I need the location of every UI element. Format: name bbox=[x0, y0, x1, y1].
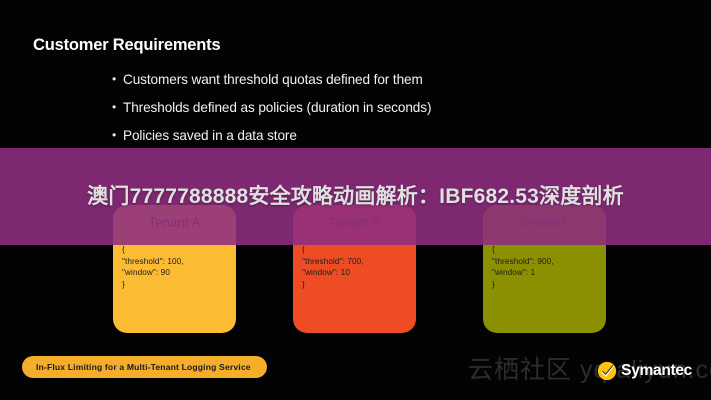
footer-title-pill: In-Flux Limiting for a Multi-Tenant Logg… bbox=[22, 356, 267, 378]
presentation-slide: Customer Requirements • Customers want t… bbox=[0, 0, 711, 400]
bullet-dot-icon: • bbox=[112, 100, 123, 115]
list-item: • Customers want threshold quotas define… bbox=[112, 72, 632, 87]
bullet-dot-icon: • bbox=[112, 72, 123, 87]
list-item-label: Thresholds defined as policies (duration… bbox=[123, 100, 632, 115]
symantec-checkmark-icon bbox=[597, 361, 617, 381]
bullet-dot-icon: • bbox=[112, 128, 123, 143]
bullet-list: • Customers want threshold quotas define… bbox=[112, 72, 632, 156]
list-item: • Policies saved in a data store bbox=[112, 128, 632, 143]
tenant-policy-json: { "threshold": 900, "window": 1 } bbox=[483, 241, 606, 290]
overlay-banner: 澳门7777788888安全攻略动画解析：IBF682.53深度剖析 bbox=[0, 148, 711, 245]
list-item-label: Policies saved in a data store bbox=[123, 128, 632, 143]
footer-title-label: In-Flux Limiting for a Multi-Tenant Logg… bbox=[36, 362, 251, 372]
tenant-policy-json: { "threshold": 700, "window": 10 } bbox=[293, 241, 416, 290]
list-item-label: Customers want threshold quotas defined … bbox=[123, 72, 632, 87]
tenant-policy-json: { "threshold": 100, "window": 90 } bbox=[113, 241, 236, 290]
page-title: Customer Requirements bbox=[33, 36, 220, 55]
list-item: • Thresholds defined as policies (durati… bbox=[112, 100, 632, 115]
brand-name-label: Symantec bbox=[621, 362, 692, 380]
overlay-title: 澳门7777788888安全攻略动画解析：IBF682.53深度剖析 bbox=[36, 182, 676, 212]
brand-logo: Symantec bbox=[597, 361, 692, 381]
